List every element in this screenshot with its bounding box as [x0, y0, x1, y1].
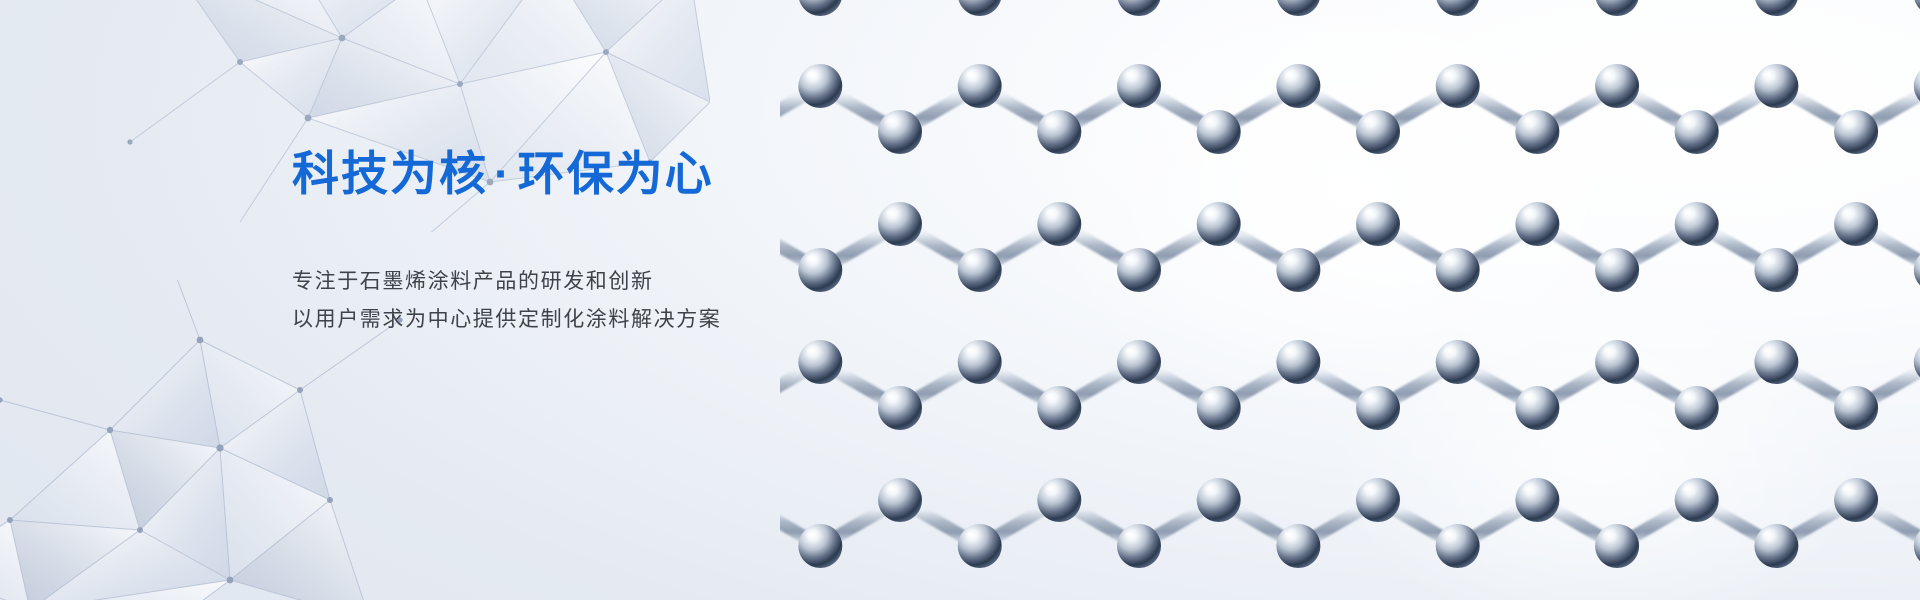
headline-separator: · — [488, 147, 518, 200]
hero-subtitle-list: 专注于石墨烯涂料产品的研发和创新 以用户需求为中心提供定制化涂料解决方案 — [292, 263, 992, 339]
page-title: 科技为核·环保为心 — [292, 148, 992, 201]
headline-part-2: 环保为心 — [518, 147, 714, 200]
hero-copy-block: 科技为核·环保为心 专注于石墨烯涂料产品的研发和创新 以用户需求为中心提供定制化… — [292, 148, 992, 339]
hero-banner: 科技为核·环保为心 专注于石墨烯涂料产品的研发和创新 以用户需求为中心提供定制化… — [0, 0, 1920, 600]
hero-subtitle-line-1: 专注于石墨烯涂料产品的研发和创新 — [292, 263, 992, 301]
headline-part-1: 科技为核 — [292, 147, 488, 200]
hero-subtitle-line-2: 以用户需求为中心提供定制化涂料解决方案 — [292, 301, 992, 339]
